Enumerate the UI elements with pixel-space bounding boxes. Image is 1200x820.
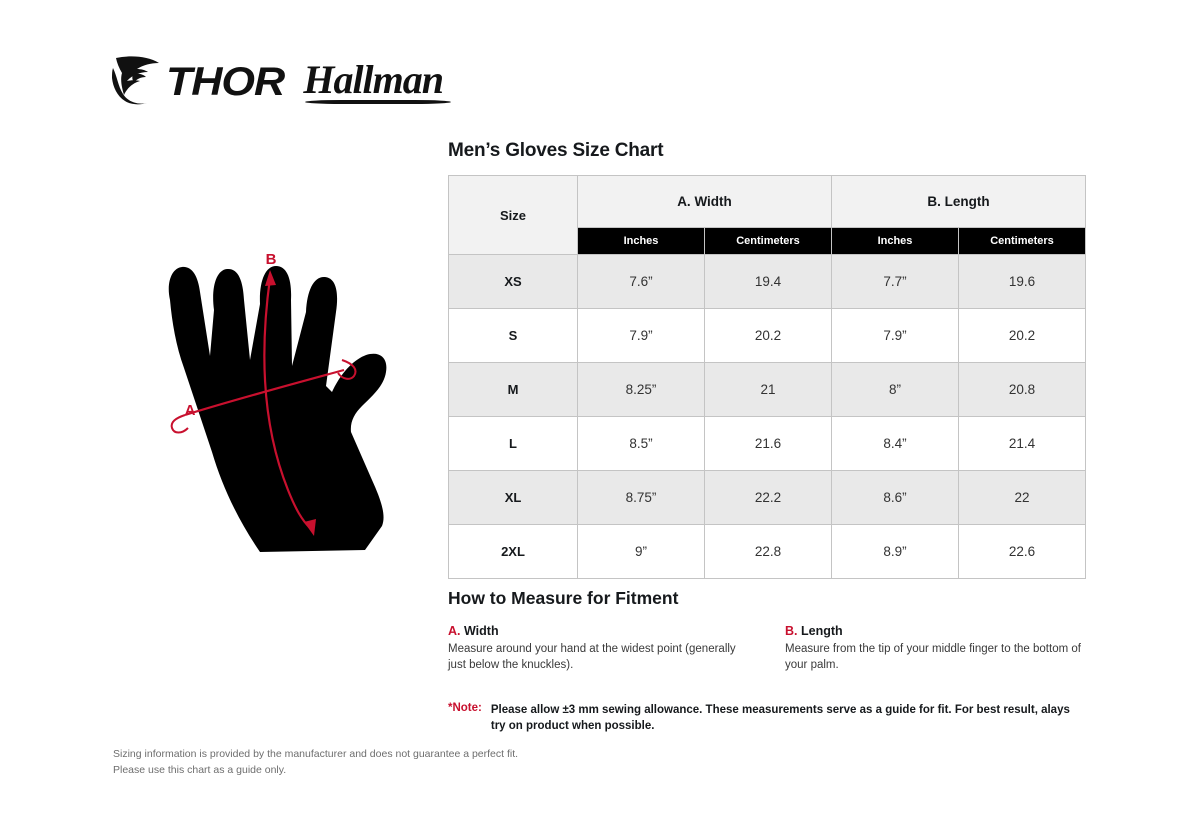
measure-length-letter: B. — [785, 624, 798, 638]
cell-length-inches: 7.7” — [832, 255, 959, 309]
table-row: S7.9”20.27.9”20.2 — [449, 309, 1086, 363]
table-row: 2XL9”22.88.9”22.6 — [449, 525, 1086, 579]
cell-size: S — [449, 309, 578, 363]
cell-length-centimeters: 22 — [959, 471, 1086, 525]
cell-length-inches: 8” — [832, 363, 959, 417]
cell-size: 2XL — [449, 525, 578, 579]
measure-width-label: Width — [464, 624, 499, 638]
cell-length-centimeters: 19.6 — [959, 255, 1086, 309]
cell-length-inches: 8.6” — [832, 471, 959, 525]
cell-size: M — [449, 363, 578, 417]
cell-width-inches: 7.6” — [578, 255, 705, 309]
size-chart-table: Size A. Width B. Length Inches Centimete… — [448, 175, 1086, 579]
cell-width-inches: 8.25” — [578, 363, 705, 417]
measure-instruction-length: B. Length Measure from the tip of your m… — [785, 624, 1085, 674]
cell-width-inches: 9” — [578, 525, 705, 579]
measure-length-heading: B. Length — [785, 624, 1085, 638]
note-label: *Note: — [448, 702, 482, 735]
page-title: Men’s Gloves Size Chart — [448, 140, 663, 162]
column-header-width-inches: Inches — [578, 228, 705, 255]
measure-width-heading: A. Width — [448, 624, 748, 638]
table-row: XS7.6”19.47.7”19.6 — [449, 255, 1086, 309]
table-row: XL8.75”22.28.6”22 — [449, 471, 1086, 525]
cell-length-inches: 8.4” — [832, 417, 959, 471]
cell-size: XL — [449, 471, 578, 525]
measure-instruction-width: A. Width Measure around your hand at the… — [448, 624, 748, 674]
cell-size: XS — [449, 255, 578, 309]
cell-width-centimeters: 20.2 — [705, 309, 832, 363]
footer-line-1: Sizing information is provided by the ma… — [113, 746, 518, 762]
column-header-length-inches: Inches — [832, 228, 959, 255]
cell-width-centimeters: 22.8 — [705, 525, 832, 579]
table-row: M8.25”218”20.8 — [449, 363, 1086, 417]
cell-length-centimeters: 20.2 — [959, 309, 1086, 363]
cell-width-centimeters: 22.2 — [705, 471, 832, 525]
figure-label-a: A — [185, 402, 196, 419]
thor-helmet-icon — [110, 54, 164, 111]
column-header-length-centimeters: Centimeters — [959, 228, 1086, 255]
glove-measurement-illustration: A B — [110, 160, 440, 570]
footer-disclaimer: Sizing information is provided by the ma… — [113, 746, 518, 779]
cell-length-inches: 7.9” — [832, 309, 959, 363]
cell-width-inches: 8.75” — [578, 471, 705, 525]
note-text: Please allow ±3 mm sewing allowance. The… — [491, 702, 1080, 735]
table-row: L8.5”21.68.4”21.4 — [449, 417, 1086, 471]
thor-logo: THOR — [110, 54, 275, 111]
cell-width-inches: 7.9” — [578, 309, 705, 363]
note-row: *Note: Please allow ±3 mm sewing allowan… — [448, 702, 1080, 735]
thor-wordmark: THOR — [166, 62, 284, 102]
brand-logo-bar: THOR Hallman — [110, 52, 443, 112]
cell-length-inches: 8.9” — [832, 525, 959, 579]
table-header-group-row: Size A. Width B. Length — [449, 176, 1086, 228]
cell-length-centimeters: 20.8 — [959, 363, 1086, 417]
measure-width-letter: A. — [448, 624, 461, 638]
hallman-logo: Hallman — [303, 60, 443, 104]
figure-label-b: B — [266, 251, 277, 268]
column-header-size: Size — [449, 176, 578, 255]
column-header-width-centimeters: Centimeters — [705, 228, 832, 255]
measure-width-body: Measure around your hand at the widest p… — [448, 641, 748, 674]
how-to-measure-title: How to Measure for Fitment — [448, 588, 678, 609]
cell-width-centimeters: 21.6 — [705, 417, 832, 471]
cell-width-centimeters: 21 — [705, 363, 832, 417]
column-header-width-group: A. Width — [578, 176, 832, 228]
measure-length-body: Measure from the tip of your middle fing… — [785, 641, 1085, 674]
cell-length-centimeters: 21.4 — [959, 417, 1086, 471]
measure-length-label: Length — [801, 624, 843, 638]
column-header-length-group: B. Length — [832, 176, 1086, 228]
cell-size: L — [449, 417, 578, 471]
footer-line-2: Please use this chart as a guide only. — [113, 762, 518, 778]
cell-length-centimeters: 22.6 — [959, 525, 1086, 579]
cell-width-centimeters: 19.4 — [705, 255, 832, 309]
cell-width-inches: 8.5” — [578, 417, 705, 471]
